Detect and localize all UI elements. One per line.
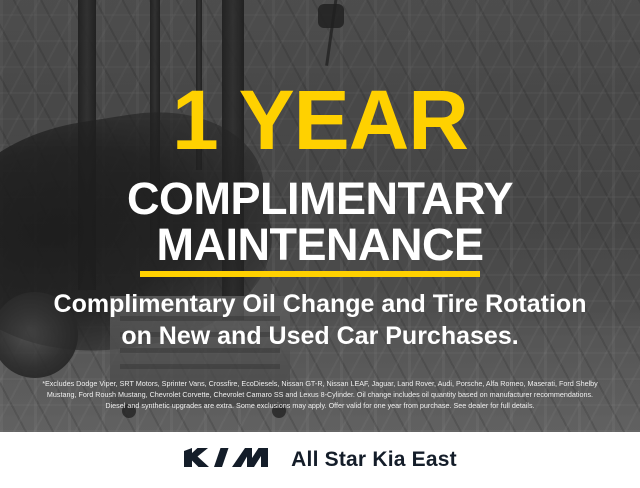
headline-secondary-line2: MAINTENANCE bbox=[0, 222, 640, 267]
dealer-name: All Star Kia East bbox=[291, 448, 457, 472]
hero-section: 1 YEAR COMPLIMENTARY MAINTENANCE Complim… bbox=[0, 0, 640, 432]
accent-divider bbox=[140, 271, 480, 277]
subheadline-line2: on New and Used Car Purchases. bbox=[16, 320, 624, 352]
footer-bar: All Star Kia East bbox=[0, 432, 640, 488]
disclaimer-line-2: Mustang, Ford Roush Mustang, Chevrolet C… bbox=[14, 389, 626, 400]
headline-primary: 1 YEAR bbox=[0, 78, 640, 162]
headline-secondary-line1: COMPLIMENTARY bbox=[0, 176, 640, 221]
subheadline: Complimentary Oil Change and Tire Rotati… bbox=[0, 288, 640, 352]
subheadline-line1: Complimentary Oil Change and Tire Rotati… bbox=[16, 288, 624, 320]
disclaimer-line-1: *Excludes Dodge Viper, SRT Motors, Sprin… bbox=[14, 378, 626, 389]
hero-content: 1 YEAR COMPLIMENTARY MAINTENANCE Complim… bbox=[0, 0, 640, 432]
disclaimer-text: *Excludes Dodge Viper, SRT Motors, Sprin… bbox=[14, 378, 626, 411]
kia-logo bbox=[183, 445, 269, 476]
disclaimer-line-3: Diesel and synthetic upgrades are extra.… bbox=[14, 400, 626, 411]
promo-banner: 1 YEAR COMPLIMENTARY MAINTENANCE Complim… bbox=[0, 0, 640, 488]
